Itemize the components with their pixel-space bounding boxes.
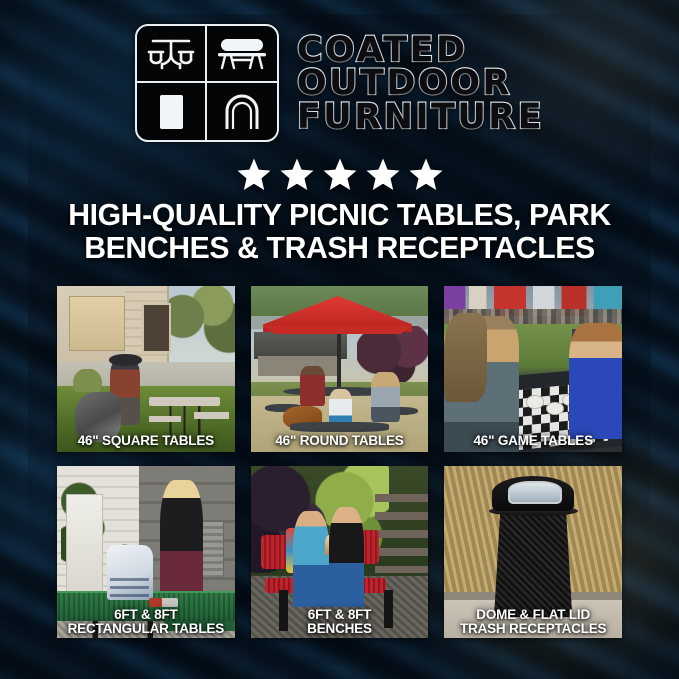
star-icon xyxy=(323,158,357,191)
trash-receptacle-icon xyxy=(137,83,207,140)
caption-line: 6FT & 8FT xyxy=(254,608,426,622)
headline-line-1: HIGH-QUALITY PICNIC TABLES, PARK xyxy=(29,199,650,232)
caption-line: TRASH RECEPTACLES xyxy=(447,622,619,636)
product-tile-square-tables[interactable]: 46" SQUARE TABLES xyxy=(57,286,235,452)
star-icon xyxy=(366,158,400,191)
product-photo-round-tables xyxy=(251,286,429,452)
poster-root: COATED OUTDOOR FURNITURE HIGH-QUALITY PI… xyxy=(0,0,679,679)
logo-word-3: FURNITURE xyxy=(297,101,544,135)
caption-line: BENCHES xyxy=(254,622,426,636)
caption-line: 6FT & 8FT xyxy=(60,608,232,622)
caption-line: 46" GAME TABLES xyxy=(447,434,619,448)
product-caption-rectangular-tables: 6FT & 8FT RECTANGULAR TABLES xyxy=(57,608,235,636)
product-caption-benches: 6FT & 8FT BENCHES xyxy=(251,608,429,636)
product-tile-round-tables[interactable]: 46" ROUND TABLES xyxy=(251,286,429,452)
picnic-table-icon xyxy=(137,26,207,83)
caption-line: DOME & FLAT LID xyxy=(447,608,619,622)
page-title: HIGH-QUALITY PICNIC TABLES, PARK BENCHES… xyxy=(29,199,650,265)
brand-logo: COATED OUTDOOR FURNITURE xyxy=(0,24,679,142)
logo-word-1: COATED xyxy=(297,34,468,68)
logo-word-2: OUTDOOR xyxy=(297,67,512,101)
product-tile-rectangular-tables[interactable]: 6FT & 8FT RECTANGULAR TABLES xyxy=(57,466,235,638)
product-caption-trash-receptacles: DOME & FLAT LID TRASH RECEPTACLES xyxy=(444,608,622,636)
product-grid: 46" SQUARE TABLES 46" xyxy=(57,286,622,638)
star-rating xyxy=(0,158,679,191)
caption-line: 46" ROUND TABLES xyxy=(254,434,426,448)
caption-line: RECTANGULAR TABLES xyxy=(60,622,232,636)
headline-line-2: BENCHES & TRASH RECEPTACLES xyxy=(29,232,650,265)
star-icon xyxy=(409,158,443,191)
logo-wordmark: COATED OUTDOOR FURNITURE xyxy=(297,34,544,135)
bike-rack-icon xyxy=(207,83,277,140)
product-caption-round-tables: 46" ROUND TABLES xyxy=(251,434,429,448)
product-photo-game-tables xyxy=(444,286,622,452)
product-tile-trash-receptacles[interactable]: DOME & FLAT LID TRASH RECEPTACLES xyxy=(444,466,622,638)
star-icon xyxy=(237,158,271,191)
logo-mark xyxy=(135,24,279,142)
product-caption-game-tables: 46" GAME TABLES xyxy=(444,434,622,448)
bench-icon xyxy=(207,26,277,83)
product-caption-square-tables: 46" SQUARE TABLES xyxy=(57,434,235,448)
product-photo-square-tables xyxy=(57,286,235,452)
poster-content: COATED OUTDOOR FURNITURE HIGH-QUALITY PI… xyxy=(0,0,679,679)
product-tile-benches[interactable]: 6FT & 8FT BENCHES xyxy=(251,466,429,638)
star-icon xyxy=(280,158,314,191)
caption-line: 46" SQUARE TABLES xyxy=(60,434,232,448)
product-tile-game-tables[interactable]: 46" GAME TABLES xyxy=(444,286,622,452)
